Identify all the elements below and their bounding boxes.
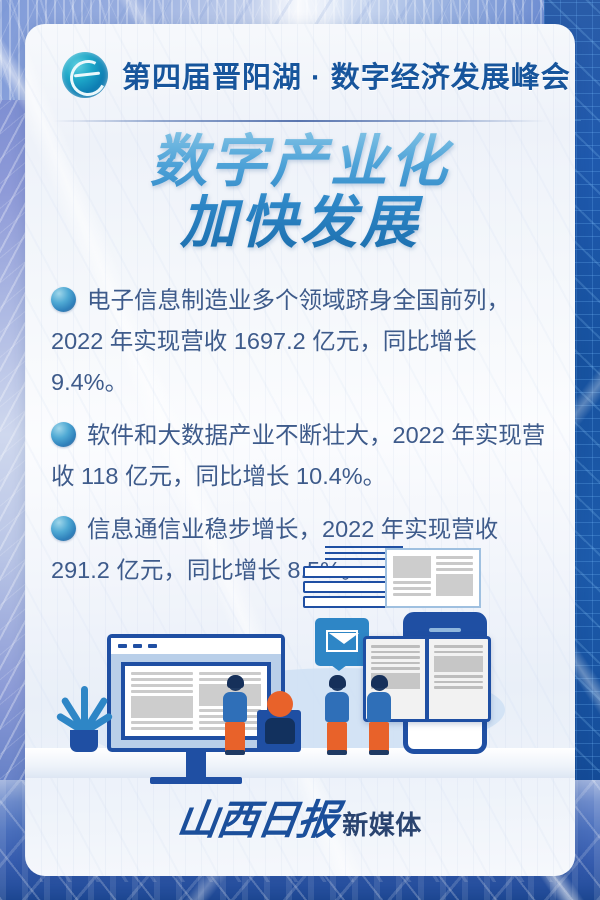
people-working-icon — [367, 676, 391, 752]
people-working-icon — [265, 691, 295, 744]
potted-plant-icon — [61, 686, 107, 752]
list-item: 电子信息制造业多个领域跻身全国前列，2022 年实现营收 1697.2 亿元，同… — [51, 280, 551, 403]
brand-name-sub: 新媒体 — [342, 805, 422, 846]
people-working-icon — [325, 676, 349, 752]
content-card: 第四届晋阳湖 · 数字经济发展峰会 数字产业化 加快发展 电子信息制造业多个领域… — [25, 24, 575, 876]
brand-name-script: 山西日报 — [174, 786, 342, 846]
page-title-line-1: 数字产业化 — [150, 130, 450, 194]
illustration-floor — [25, 748, 575, 778]
illustration — [25, 554, 575, 804]
header-divider — [53, 120, 547, 122]
paper-sheet-icon — [385, 548, 481, 608]
list-item-text: 软件和大数据产业不断壮大，2022 年实现营收 118 亿元，同比增长 10.4… — [51, 422, 545, 489]
list-item: 软件和大数据产业不断壮大，2022 年实现营收 118 亿元，同比增长 10.4… — [51, 415, 551, 497]
poster-root: 第四届晋阳湖 · 数字经济发展峰会 数字产业化 加快发展 电子信息制造业多个领域… — [0, 0, 600, 900]
blue-sphere-bullet-icon — [51, 287, 76, 312]
publisher-brand: 山西日报 新媒体 — [25, 786, 575, 846]
blue-sphere-bullet-icon — [51, 422, 76, 447]
blue-sphere-bullet-icon — [51, 516, 76, 541]
list-item-text: 电子信息制造业多个领域跻身全国前列，2022 年实现营收 1697.2 亿元，同… — [51, 287, 510, 395]
people-working-icon — [223, 676, 247, 752]
page-title: 数字产业化 加快发展 — [25, 132, 575, 254]
email-envelope-bubble-icon — [315, 618, 369, 666]
header-title: 第四届晋阳湖 · 数字经济发展峰会 — [122, 54, 571, 96]
page-title-line-2: 加快发展 — [25, 193, 575, 254]
summit-swirl-logo-icon — [62, 52, 108, 98]
poster-header: 第四届晋阳湖 · 数字经济发展峰会 — [25, 38, 575, 112]
